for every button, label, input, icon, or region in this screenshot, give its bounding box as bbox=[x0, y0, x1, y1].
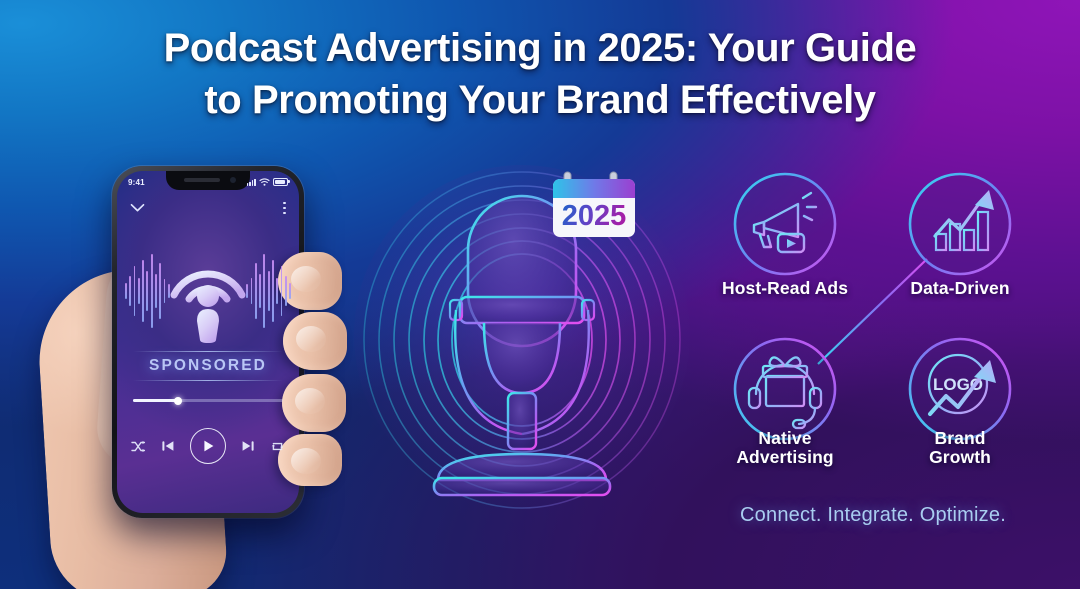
play-icon[interactable] bbox=[190, 428, 226, 464]
signal-bars-icon bbox=[247, 179, 256, 186]
status-bar: 9:41 bbox=[117, 174, 299, 190]
smartphone-device: 9:41 bbox=[112, 166, 304, 518]
finger-nail bbox=[295, 388, 325, 414]
playback-controls bbox=[117, 426, 299, 466]
label-line-1: Native bbox=[758, 428, 811, 448]
neon-microphone-illustration: 2025 bbox=[352, 150, 692, 545]
page-title: Podcast Advertising in 2025: Your Guide … bbox=[0, 22, 1080, 126]
label-line-2: Advertising bbox=[736, 447, 833, 467]
phone-in-hand-illustration: 9:41 bbox=[50, 152, 380, 589]
label-line-1: Brand bbox=[934, 428, 985, 448]
glow-divider-bottom bbox=[133, 380, 283, 381]
previous-track-icon[interactable] bbox=[161, 439, 175, 453]
title-line-2: to Promoting Your Brand Effectively bbox=[34, 74, 1046, 126]
status-icons bbox=[247, 178, 288, 187]
tagline: Connect. Integrate. Optimize. bbox=[690, 504, 1056, 527]
sponsored-badge: SPONSORED bbox=[117, 357, 299, 375]
progress-thumb[interactable] bbox=[174, 397, 182, 405]
node-label-brand-growth: Brand Growth bbox=[870, 429, 1050, 468]
label-line-2: Growth bbox=[929, 447, 991, 467]
hand-finger-3 bbox=[282, 374, 346, 432]
chevron-down-icon[interactable] bbox=[130, 203, 145, 213]
title-line-1: Podcast Advertising in 2025: Your Guide bbox=[34, 22, 1046, 74]
repeat-icon[interactable] bbox=[270, 440, 285, 453]
node-data-driven bbox=[910, 174, 1010, 274]
node-host-read-ads bbox=[735, 174, 835, 274]
status-time: 9:41 bbox=[128, 178, 145, 187]
node-label-host-read-ads: Host-Read Ads bbox=[695, 279, 875, 298]
podcast-artwork bbox=[117, 233, 299, 351]
progress-fill bbox=[133, 399, 178, 402]
next-track-icon[interactable] bbox=[241, 439, 255, 453]
sound-wave-rings-icon bbox=[352, 150, 692, 545]
node-native-advertising bbox=[735, 339, 835, 439]
kebab-menu-icon[interactable] bbox=[283, 202, 286, 215]
podcast-icon bbox=[158, 239, 258, 343]
playback-progress-slider[interactable] bbox=[133, 399, 283, 402]
node-label-data-driven: Data-Driven bbox=[870, 279, 1050, 298]
wifi-icon bbox=[259, 178, 270, 186]
phone-screen: 9:41 bbox=[117, 171, 299, 513]
node-label-native-advertising: Native Advertising bbox=[695, 429, 875, 468]
poster-canvas: Podcast Advertising in 2025: Your Guide … bbox=[0, 0, 1080, 589]
node-brand-growth: LOGO bbox=[910, 339, 1010, 439]
battery-icon bbox=[273, 178, 288, 187]
benefits-node-graph: LOGO Host-Read Ads Data-Driven Native Ad… bbox=[690, 166, 1056, 566]
glow-divider-top bbox=[133, 351, 283, 352]
calendar-icon: 2025 bbox=[548, 170, 640, 242]
shuffle-icon[interactable] bbox=[131, 440, 146, 453]
player-top-nav bbox=[117, 197, 299, 219]
finger-nail bbox=[296, 326, 326, 352]
calendar-year: 2025 bbox=[562, 200, 627, 232]
